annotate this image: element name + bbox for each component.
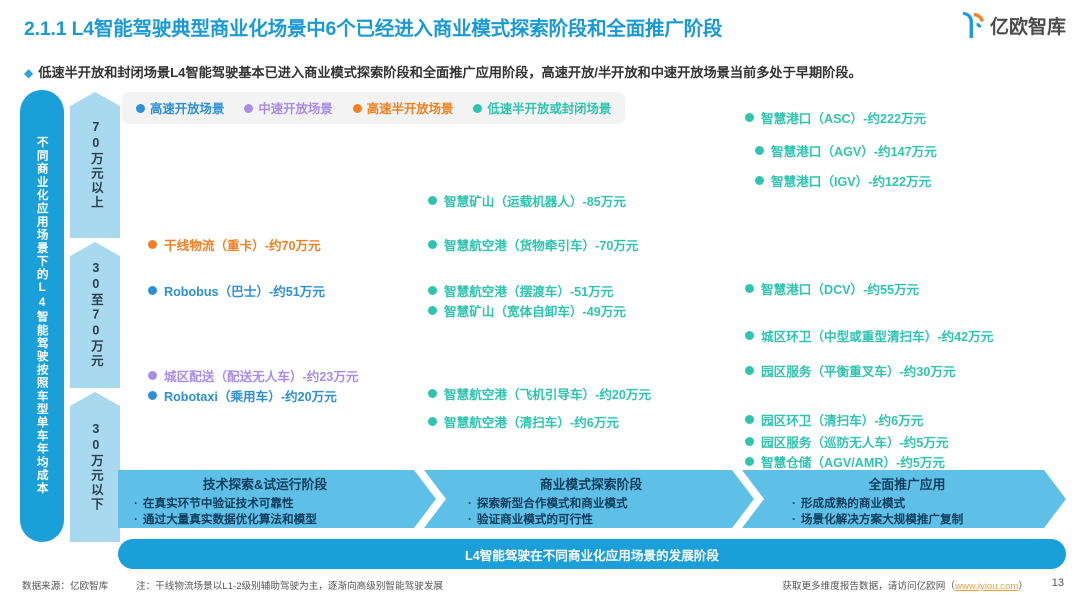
point-label: 智慧矿山（宽体自卸车）-49万元 (444, 301, 626, 320)
footer: 数据来源：亿欧智库 注：干线物流场景以L1-2级别辅助驾驶为主，逐渐向高级别智能… (0, 578, 1080, 598)
point-dot-icon (148, 371, 157, 380)
legend-label: 中速开放场景 (258, 99, 332, 117)
point-dot-icon (755, 146, 764, 155)
point-label: 智慧港口（ASC）-约222万元 (761, 108, 926, 127)
bullet-icon: · (134, 512, 138, 528)
data-point: 智慧航空港（飞机引导车）-约20万元 (428, 384, 651, 403)
point-dot-icon (745, 113, 754, 122)
data-point: 智慧港口（IGV）-约122万元 (755, 171, 931, 190)
point-label: 智慧港口（DCV）-约55万元 (761, 279, 919, 298)
data-point: 智慧港口（ASC）-约222万元 (745, 108, 926, 127)
point-dot-icon (745, 331, 754, 340)
bullet-icon: · (792, 512, 796, 528)
data-point: 园区环卫（清扫车）-约6万元 (745, 410, 923, 429)
legend-item-high-speed-open: 高速开放场景 (136, 99, 224, 117)
stage-bullet: ·验证商业模式的可行性 (468, 512, 744, 528)
footer-right-text: 获取更多维度报告数据，请访问亿欧网（ (782, 581, 955, 592)
stage-tech-exploration: 技术探索&试运行阶段 ·在真实环节中验证技术可靠性 ·通过大量真实数据优化算法和… (118, 470, 436, 528)
stage-bullet: ·场景化解决方案大规模推广复制 (792, 512, 1056, 528)
logo-mark-icon (960, 10, 986, 40)
data-point: 智慧矿山（运载机器人）-85万元 (428, 191, 626, 210)
point-dot-icon (148, 286, 157, 295)
stage-bullet: ·在真实环节中验证技术可靠性 (134, 496, 426, 512)
legend-label: 高速开放场景 (150, 99, 224, 117)
stage-bullet-text: 在真实环节中验证技术可靠性 (143, 496, 294, 512)
stage-bullet-text: 探索新型合作模式和商业模式 (477, 496, 628, 512)
page-title: 2.1.1 L4智能驾驶典型商业化场景中6个已经进入商业模式探索阶段和全面推广阶… (24, 12, 722, 41)
point-dot-icon (428, 240, 437, 249)
page-number: 13 (1052, 577, 1064, 589)
legend-dot-icon (353, 104, 362, 113)
point-dot-icon (148, 240, 157, 249)
point-label: Robotaxi（乘用车）-约20万元 (164, 386, 337, 405)
brand-logo: 亿欧智库 (960, 10, 1066, 40)
tier-arrow-mid: 30至70万元 (70, 242, 120, 388)
stage-business-model-exploration: 商业模式探索阶段 ·探索新型合作模式和商业模式 ·验证商业模式的可行性 (424, 470, 754, 528)
stage-bullets: ·探索新型合作模式和商业模式 ·验证商业模式的可行性 (454, 496, 744, 529)
data-point: Robobus（巴士）-约51万元 (148, 281, 325, 300)
data-point: 园区服务（平衡重叉车）-约30万元 (745, 361, 956, 380)
stage-title: 商业模式探索阶段 (454, 474, 744, 493)
slide-root: 2.1.1 L4智能驾驶典型商业化场景中6个已经进入商业模式探索阶段和全面推广阶… (0, 0, 1080, 598)
data-point: 城区配送（配送无人车）-约23万元 (148, 366, 359, 385)
point-label: 智慧矿山（运载机器人）-85万元 (444, 191, 626, 210)
data-point: 智慧港口（DCV）-约55万元 (745, 279, 919, 298)
stage-bullet-text: 验证商业模式的可行性 (477, 512, 593, 528)
point-label: 智慧港口（IGV）-约122万元 (771, 171, 931, 190)
point-dot-icon (755, 176, 764, 185)
stage-chevrons: 技术探索&试运行阶段 ·在真实环节中验证技术可靠性 ·通过大量真实数据优化算法和… (118, 470, 1066, 528)
data-point: 干线物流（重卡）-约70万元 (148, 235, 321, 254)
stage-full-promotion: 全面推广应用 ·形成成熟的商业模式 ·场景化解决方案大规模推广复制 (742, 470, 1066, 528)
legend-label: 低速半开放或封闭场景 (487, 99, 611, 117)
stage-bullet: ·通过大量真实数据优化算法和模型 (134, 512, 426, 528)
point-dot-icon (745, 457, 754, 466)
data-point: 智慧航空港（清扫车）-约6万元 (428, 412, 619, 431)
point-dot-icon (148, 391, 157, 400)
bullet-icon: · (134, 496, 138, 512)
data-point: 智慧仓储（AGV/AMR）-约5万元 (745, 452, 945, 471)
subtitle: ◆低速半开放和封闭场景L4智能驾驶基本已进入商业模式探索阶段和全面推广应用阶段，… (24, 62, 1062, 81)
point-label: 园区服务（巡防无人车）-约5万元 (761, 432, 949, 451)
logo-text: 亿欧智库 (990, 12, 1066, 39)
data-point: 智慧矿山（宽体自卸车）-49万元 (428, 301, 626, 320)
point-label: Robobus（巴士）-约51万元 (164, 281, 325, 300)
stage-bullet: ·探索新型合作模式和商业模式 (468, 496, 744, 512)
tier-arrow-low: 30万元以下 (70, 392, 120, 542)
data-point: 智慧航空港（摆渡车）-51万元 (428, 281, 613, 300)
footer-source: 数据来源：亿欧智库 (22, 578, 108, 592)
point-dot-icon (745, 284, 754, 293)
point-dot-icon (428, 196, 437, 205)
tier-arrow-high: 70万元以上 (70, 92, 120, 238)
legend-dot-icon (136, 104, 145, 113)
data-point: 园区服务（巡防无人车）-约5万元 (745, 432, 949, 451)
stage-bullet: ·形成成熟的商业模式 (792, 496, 1056, 512)
point-label: 智慧航空港（摆渡车）-51万元 (444, 281, 613, 300)
stage-title: 技术探索&试运行阶段 (126, 474, 426, 493)
stage-bullet-text: 通过大量真实数据优化算法和模型 (143, 512, 317, 528)
data-point: 智慧港口（AGV）-约147万元 (755, 141, 937, 160)
point-label: 智慧仓储（AGV/AMR）-约5万元 (761, 452, 945, 471)
point-label: 园区服务（平衡重叉车）-约30万元 (761, 361, 956, 380)
cost-tier-axis: 70万元以上 30至70万元 30万元以下 (70, 92, 120, 542)
stage-title: 全面推广应用 (772, 474, 1056, 493)
legend-label: 高速半开放场景 (367, 99, 454, 117)
point-dot-icon (428, 389, 437, 398)
stage-bullet-text: 形成成熟的商业模式 (801, 496, 905, 512)
legend-item-low-speed-closed: 低速半开放或封闭场景 (473, 99, 611, 117)
bullet-icon: · (468, 496, 472, 512)
subtitle-text: 低速半开放和封闭场景L4智能驾驶基本已进入商业模式探索阶段和全面推广应用阶段，高… (38, 65, 862, 80)
bullet-icon: · (792, 496, 796, 512)
point-dot-icon (745, 366, 754, 375)
point-dot-icon (745, 437, 754, 446)
legend-dot-icon (244, 104, 253, 113)
legend-item-high-speed-semi-open: 高速半开放场景 (353, 99, 454, 117)
legend: 高速开放场景 中速开放场景 高速半开放场景 低速半开放或封闭场景 (122, 92, 625, 124)
point-label: 智慧航空港（清扫车）-约6万元 (444, 412, 619, 431)
point-dot-icon (745, 415, 754, 424)
footer-right-suffix: ） (1018, 581, 1028, 592)
point-label: 城区配送（配送无人车）-约23万元 (164, 366, 359, 385)
point-label: 智慧港口（AGV）-约147万元 (771, 141, 937, 160)
point-dot-icon (428, 286, 437, 295)
stage-bullets: ·在真实环节中验证技术可靠性 ·通过大量真实数据优化算法和模型 (126, 496, 426, 529)
diamond-bullet-icon: ◆ (24, 66, 33, 80)
footer-note: 注：干线物流场景以L1-2级别辅助驾驶为主，逐渐向高级别智能驾驶发展 (136, 578, 443, 592)
point-label: 干线物流（重卡）-约70万元 (164, 235, 321, 254)
bottom-summary-bar: L4智能驾驶在不同商业化应用场景的发展阶段 (118, 539, 1066, 569)
point-label: 智慧航空港（货物牵引车）-70万元 (444, 235, 639, 254)
stage-bullets: ·形成成熟的商业模式 ·场景化解决方案大规模推广复制 (772, 496, 1056, 529)
data-point: 城区环卫（中型或重型清扫车）-约42万元 (745, 326, 993, 345)
vertical-axis-label: 不同商业化应用场景下的L4智能驾驶按照车型单车年均成本 (20, 90, 64, 542)
iyiou-link[interactable]: www.iyiou.com (955, 581, 1018, 592)
footer-right: 获取更多维度报告数据，请访问亿欧网（www.iyiou.com） (782, 578, 1028, 592)
legend-item-mid-speed-open: 中速开放场景 (244, 99, 332, 117)
point-label: 园区环卫（清扫车）-约6万元 (761, 410, 923, 429)
point-label: 智慧航空港（飞机引导车）-约20万元 (444, 384, 651, 403)
data-point: 智慧航空港（货物牵引车）-70万元 (428, 235, 639, 254)
point-label: 城区环卫（中型或重型清扫车）-约42万元 (761, 326, 993, 345)
point-dot-icon (428, 417, 437, 426)
point-dot-icon (428, 306, 437, 315)
data-point: Robotaxi（乘用车）-约20万元 (148, 386, 337, 405)
bullet-icon: · (468, 512, 472, 528)
legend-dot-icon (473, 104, 482, 113)
stage-bullet-text: 场景化解决方案大规模推广复制 (801, 512, 963, 528)
